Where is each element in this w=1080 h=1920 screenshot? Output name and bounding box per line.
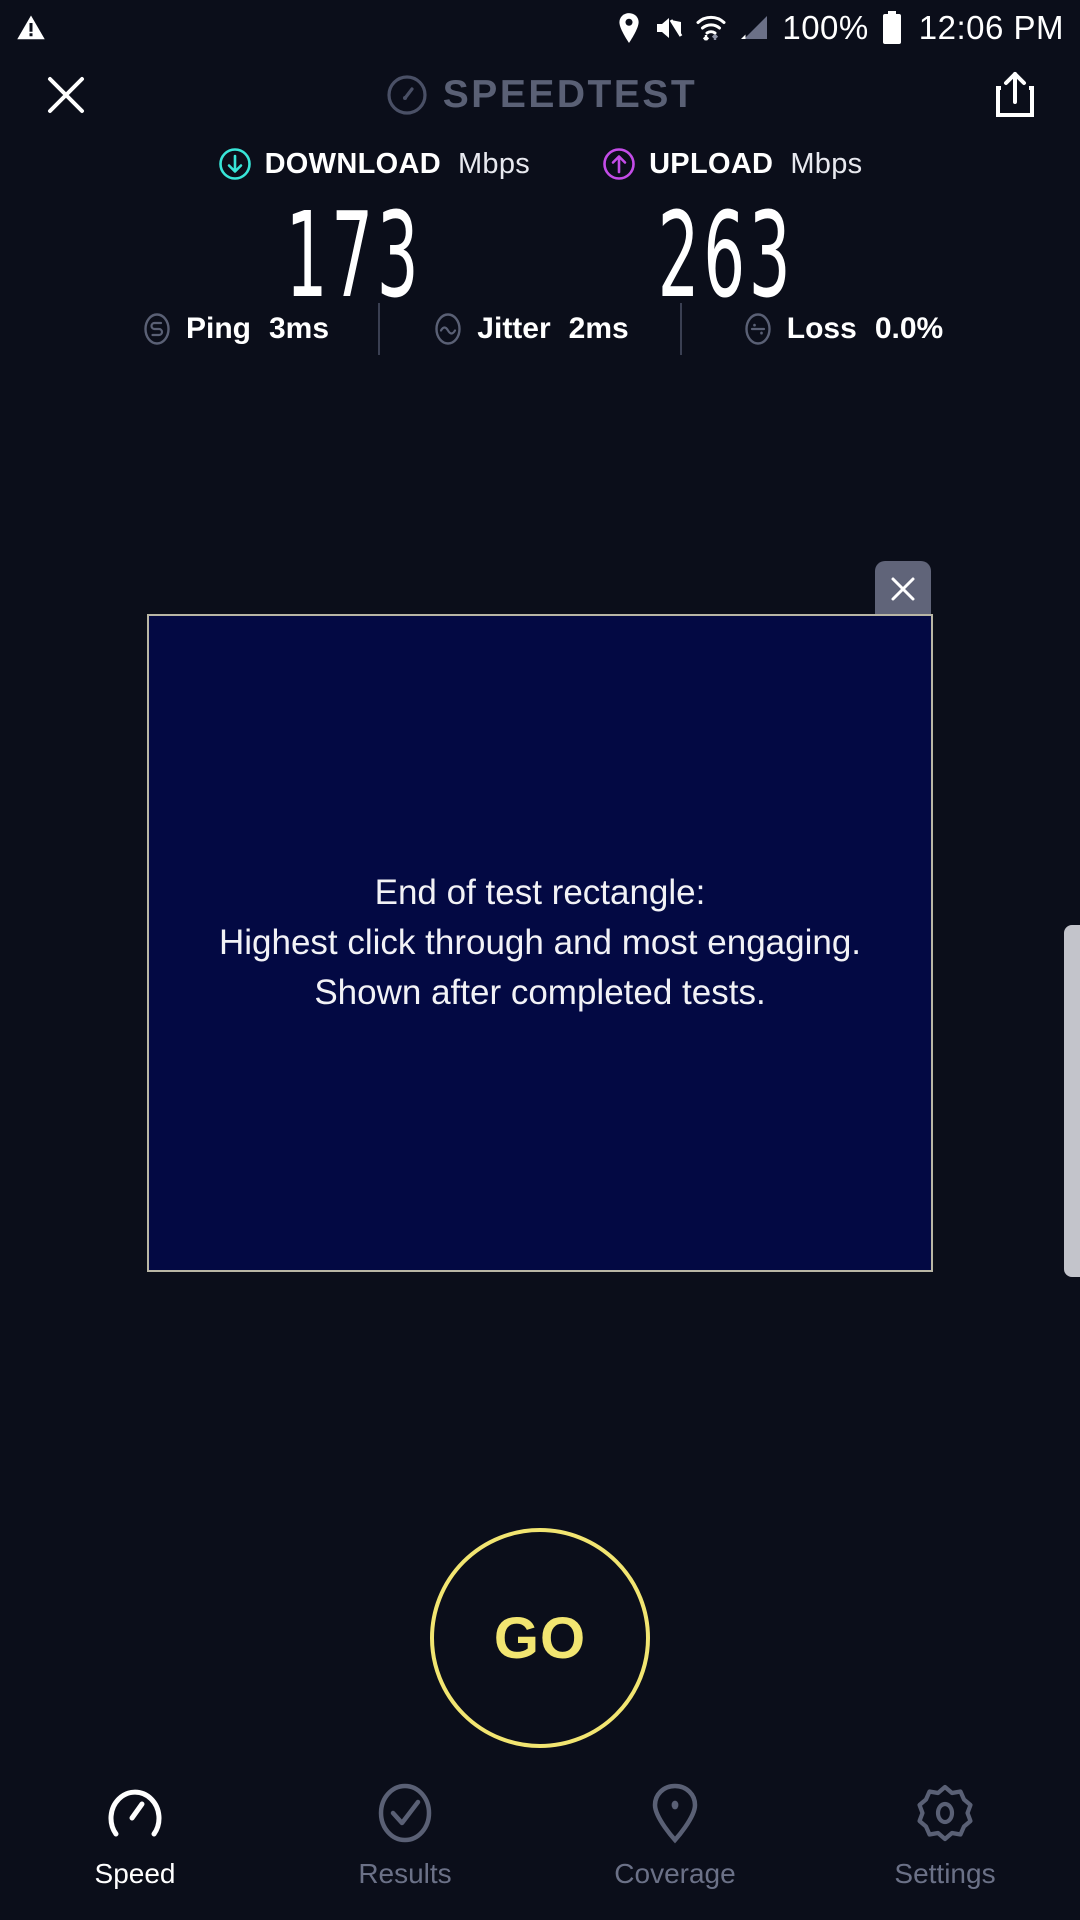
- ping-icon: [140, 312, 174, 346]
- status-bar: 100% 12:06 PM: [0, 0, 1080, 56]
- advertisement[interactable]: End of test rectangle: Highest click thr…: [147, 614, 933, 1272]
- result-values-row: 173 263: [0, 194, 1080, 318]
- download-unit: Mbps: [458, 148, 530, 181]
- location-icon: [616, 12, 642, 44]
- speedometer-icon: [104, 1782, 166, 1844]
- arrow-up-circle-icon: [602, 147, 636, 181]
- clock: 12:06 PM: [919, 9, 1064, 47]
- tab-speed[interactable]: Speed: [0, 1782, 270, 1890]
- share-icon[interactable]: [992, 70, 1038, 120]
- map-pin-icon: [644, 1782, 706, 1844]
- app-bar: SPEEDTEST: [0, 56, 1080, 134]
- speedometer-icon: [385, 73, 429, 117]
- go-button[interactable]: GO: [430, 1528, 650, 1748]
- status-bar-left: [16, 13, 46, 43]
- tab-coverage[interactable]: Coverage: [540, 1782, 810, 1890]
- upload-unit: Mbps: [790, 148, 862, 181]
- close-icon[interactable]: [42, 71, 90, 119]
- jitter-value: 2ms: [569, 312, 629, 346]
- speedtest-app-screen: 100% 12:06 PM SP: [0, 0, 1080, 1920]
- upload-label: UPLOAD: [649, 148, 773, 181]
- jitter-label: Jitter: [477, 312, 550, 346]
- signal-icon: [738, 14, 770, 42]
- vertical-scrollbar[interactable]: [1064, 925, 1080, 1277]
- status-bar-right: 100% 12:06 PM: [616, 9, 1064, 47]
- warning-triangle-icon: [16, 13, 46, 43]
- app-title-group: SPEEDTEST: [385, 73, 697, 117]
- arrow-down-circle-icon: [218, 147, 252, 181]
- wifi-icon: [696, 13, 726, 43]
- loss-value: 0.0%: [875, 312, 943, 346]
- bottom-navigation: Speed Results Coverage: [0, 1770, 1080, 1920]
- tab-coverage-label: Coverage: [614, 1858, 735, 1890]
- tab-settings-label: Settings: [894, 1858, 995, 1890]
- ping-label: Ping: [186, 312, 251, 346]
- ad-rectangle[interactable]: End of test rectangle: Highest click thr…: [147, 614, 933, 1272]
- metric-jitter: Jitter 2ms: [380, 312, 680, 346]
- loss-label: Loss: [787, 312, 857, 346]
- battery-percent: 100%: [782, 9, 868, 47]
- ad-line-3: Shown after completed tests.: [219, 968, 861, 1018]
- download-label-group: DOWNLOAD Mbps: [218, 147, 531, 181]
- ad-line-2: Highest click through and most engaging.: [219, 918, 861, 968]
- ping-value: 3ms: [269, 312, 329, 346]
- check-circle-icon: [374, 1782, 436, 1844]
- upload-value: 263: [608, 194, 844, 318]
- results-summary: DOWNLOAD Mbps UPLOAD Mbps 173 263: [0, 140, 1080, 318]
- download-label: DOWNLOAD: [265, 148, 441, 181]
- battery-full-icon: [881, 11, 903, 45]
- ad-close-button[interactable]: [875, 561, 931, 617]
- ad-text: End of test rectangle: Highest click thr…: [199, 868, 881, 1017]
- metric-ping: Ping 3ms: [78, 312, 378, 346]
- metric-loss: Loss 0.0%: [682, 312, 1002, 346]
- jitter-icon: [431, 312, 465, 346]
- page-title: SPEEDTEST: [443, 73, 697, 117]
- tab-results-label: Results: [358, 1858, 451, 1890]
- upload-label-group: UPLOAD Mbps: [602, 147, 862, 181]
- gear-icon: [914, 1782, 976, 1844]
- result-labels-row: DOWNLOAD Mbps UPLOAD Mbps: [0, 140, 1080, 188]
- tab-speed-label: Speed: [95, 1858, 176, 1890]
- ad-line-1: End of test rectangle:: [219, 868, 861, 918]
- metrics-row: Ping 3ms Jitter 2ms: [0, 303, 1080, 355]
- loss-icon: [741, 312, 775, 346]
- mute-icon: [654, 14, 684, 42]
- go-button-label: GO: [494, 1605, 586, 1672]
- download-value: 173: [236, 194, 472, 318]
- tab-settings[interactable]: Settings: [810, 1782, 1080, 1890]
- tab-results[interactable]: Results: [270, 1782, 540, 1890]
